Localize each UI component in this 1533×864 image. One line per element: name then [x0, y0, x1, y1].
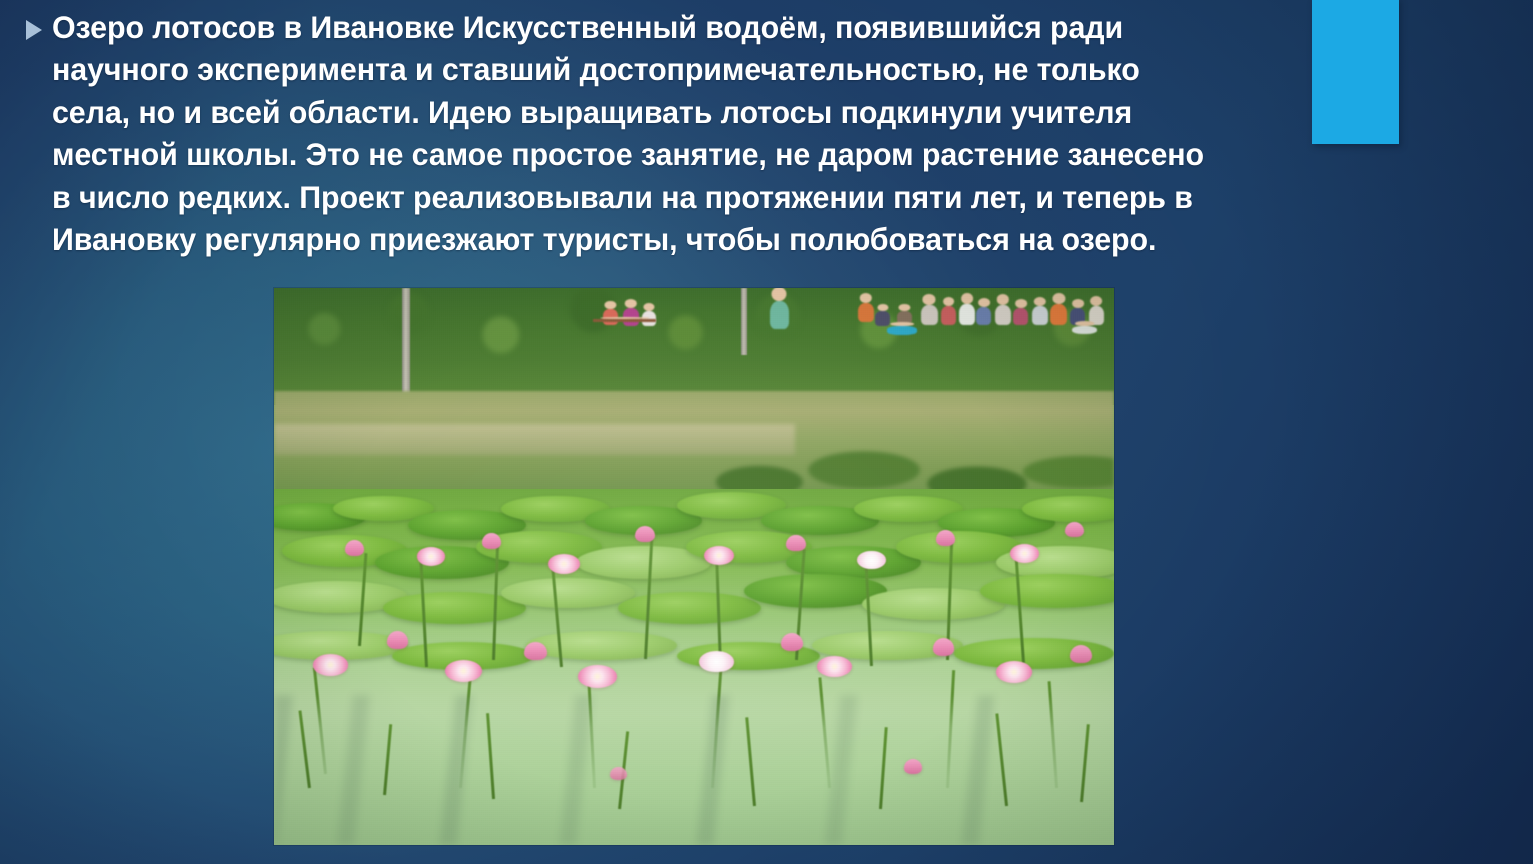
photo-lotus-flower	[781, 633, 803, 651]
photo-lotus-flower	[445, 660, 482, 682]
photo-person	[858, 303, 874, 322]
photo-lotus-flower	[578, 665, 617, 688]
photo-lotus-leaf	[618, 592, 761, 624]
photo-person-crouching	[887, 326, 917, 334]
photo-lotus-flower	[704, 546, 734, 565]
bullet-marker	[22, 6, 52, 40]
photo-crowd-of-visitors	[274, 288, 1114, 455]
photo-lotus-leaf	[501, 578, 635, 608]
photo-person	[770, 301, 789, 329]
photo-person	[976, 307, 991, 325]
photo-lotus-flower	[699, 651, 734, 672]
photo-lotus-flower	[817, 656, 852, 677]
photo-lotus-flower	[482, 533, 500, 549]
photo-lotus-flower	[524, 642, 547, 661]
photo-lotus-flower	[933, 638, 955, 656]
photo-lotus-flower	[1010, 544, 1039, 563]
lotus-lake-photograph	[274, 288, 1114, 845]
photo-lotus-flower	[786, 535, 805, 551]
slide-body-text: Озеро лотосов в Ивановке Искусственный в…	[22, 6, 1267, 260]
photo-lotus-flower	[345, 540, 364, 556]
photo-person	[995, 305, 1011, 325]
photo-lotus-flower	[857, 551, 886, 570]
photo-person	[921, 305, 938, 325]
bullet-paragraph: Озеро лотосов в Ивановке Искусственный в…	[52, 6, 1224, 260]
photo-person	[1050, 304, 1067, 325]
photo-lotus-flower	[635, 526, 655, 542]
photo-water-surface	[274, 695, 1114, 845]
photo-lotus-flower	[1065, 522, 1083, 537]
photo-person	[1032, 306, 1048, 324]
photo-bench	[593, 319, 656, 322]
photo-lotus-flower	[417, 547, 446, 566]
photo-lotus-flower	[610, 767, 627, 781]
photo-person	[941, 306, 956, 324]
photo-lotus-flower	[387, 631, 409, 649]
photo-lotus-pond	[274, 489, 1114, 845]
photo-lotus-flower	[548, 554, 580, 574]
photo-person	[959, 304, 974, 325]
photo-lotus-leaf	[526, 631, 677, 660]
photo-person	[1013, 308, 1028, 325]
presentation-slide: Озеро лотосов в Ивановке Искусственный в…	[0, 0, 1533, 864]
photo-lotus-flower	[996, 661, 1031, 682]
photo-lotus-flower	[313, 654, 348, 675]
bullet-list-item: Озеро лотосов в Ивановке Искусственный в…	[22, 6, 1267, 260]
photo-person-crouching	[1072, 326, 1097, 335]
triangle-right-bullet-icon	[26, 20, 42, 40]
photo-lotus-flower	[1070, 645, 1092, 663]
accent-rectangle	[1312, 0, 1399, 144]
photo-lotus-flower	[904, 759, 922, 774]
photo-person	[875, 311, 889, 325]
